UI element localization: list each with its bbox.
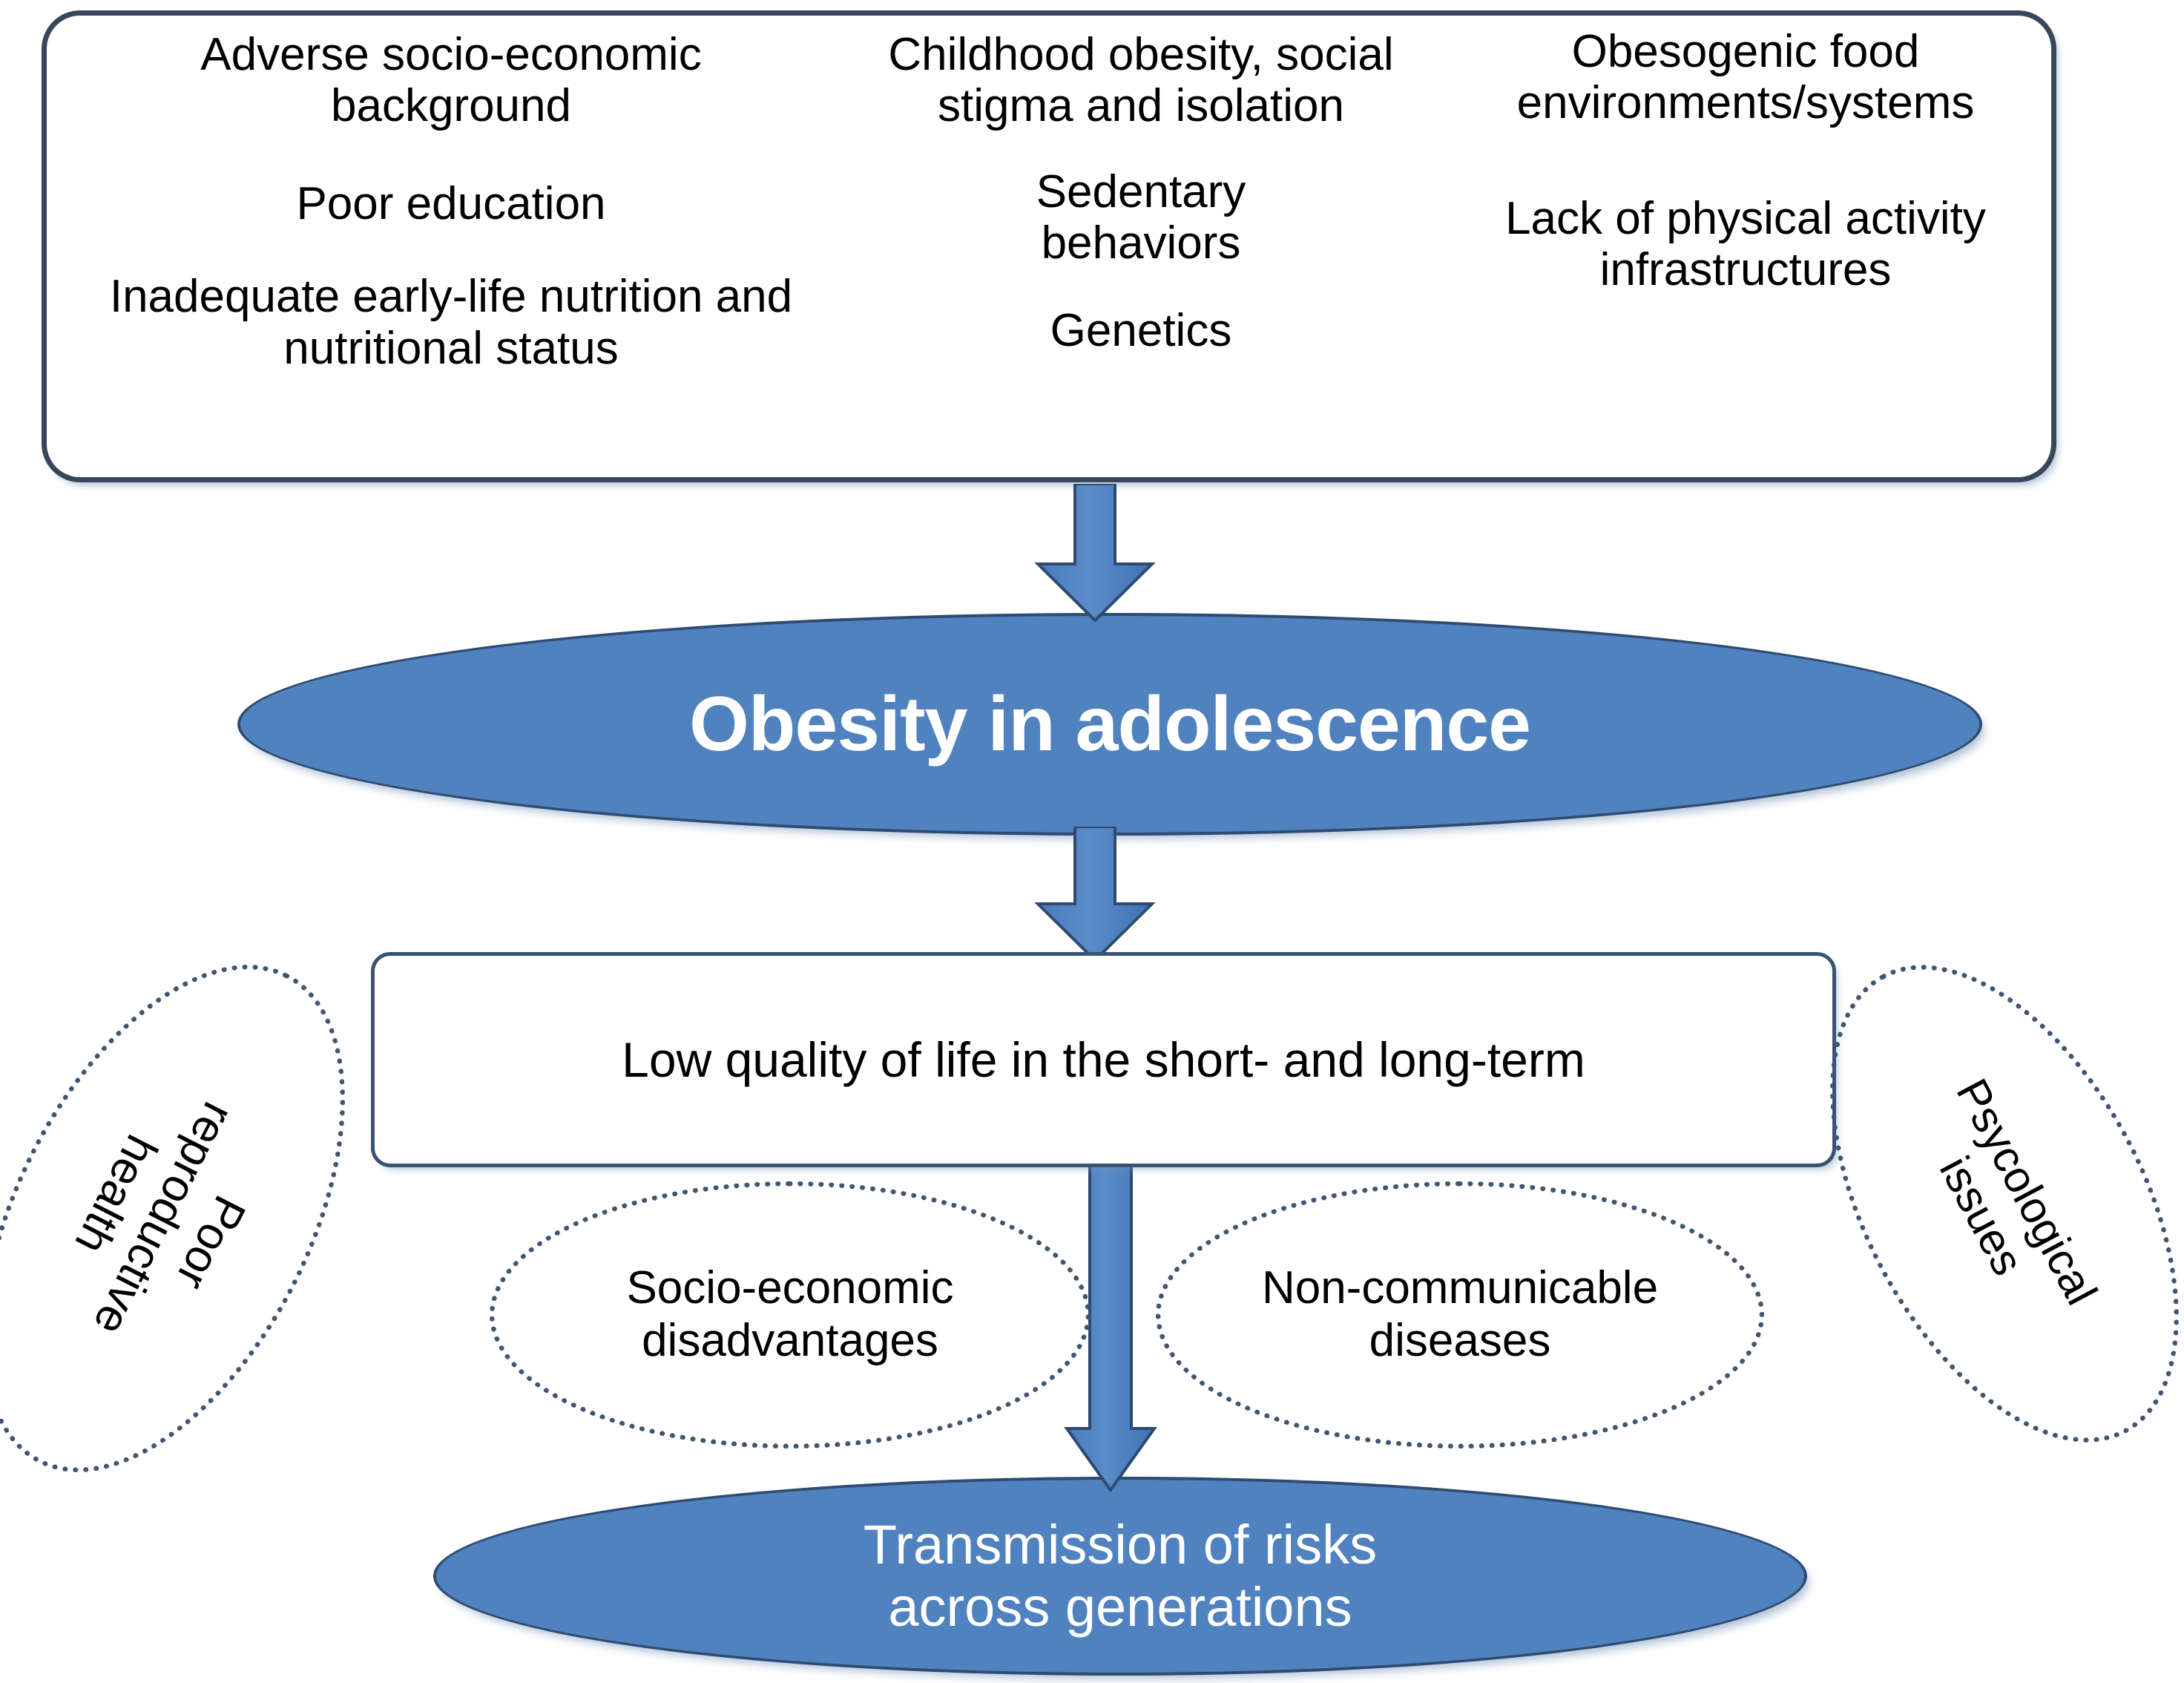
arrow-obesity-to-quality-of-life-icon [1032,827,1158,962]
outcome-poor-reproductive-health-label: Poor reproductive health [27,1054,299,1382]
drivers-column-environmental: Obesogenic food environments/systems Lac… [1441,16,2050,477]
driver-sedentary-behaviors: Sedentary behaviors [1036,166,1246,269]
driver-obesogenic-food-environments: Obesogenic food environments/systems [1517,26,1975,129]
outcome-socio-economic-disadvantages: Socio-economic disadvantages [490,1181,1091,1449]
driver-inadequate-early-life-nutrition: Inadequate early-life nutrition and nutr… [110,271,792,374]
central-node-obesity-in-adolescence: Obesity in adolescence [237,613,1982,836]
drivers-column-socio-economic: Adverse socio-economic background Poor e… [62,16,841,477]
driver-childhood-obesity-stigma-isolation: Childhood obesity, social stigma and iso… [888,29,1393,132]
central-node-label: Obesity in adolescence [689,680,1530,769]
diagram-canvas: Adverse socio-economic background Poor e… [0,0,2184,1683]
drivers-box: Adverse socio-economic background Poor e… [42,10,2056,482]
driver-genetics: Genetics [1050,305,1232,356]
driver-poor-education: Poor education [296,178,605,229]
terminal-node-label: Transmission of risks across generations [864,1514,1377,1639]
outcome-non-communicable-diseases: Non-communicable diseases [1156,1181,1764,1449]
outcome-box-label: Low quality of life in the short- and lo… [622,1031,1585,1088]
outcome-psycological-issues-label: Psycological issues [1901,1070,2108,1336]
terminal-node-transmission-of-risks: Transmission of risks across generations [433,1477,1807,1676]
arrow-drivers-to-obesity-icon [1032,484,1158,622]
driver-adverse-socio-economic-background: Adverse socio-economic background [200,29,701,132]
outcome-poor-reproductive-health: Poor reproductive health [0,907,420,1531]
outcome-non-communicable-diseases-label: Non-communicable diseases [1262,1262,1658,1367]
driver-lack-of-physical-activity-infrastructures: Lack of physical activity infrastructure… [1505,193,1986,296]
outcome-socio-economic-disadvantages-label: Socio-economic disadvantages [626,1262,953,1367]
outcome-box-quality-of-life: Low quality of life in the short- and lo… [371,952,1836,1167]
drivers-column-individual: Childhood obesity, social stigma and iso… [848,16,1434,477]
